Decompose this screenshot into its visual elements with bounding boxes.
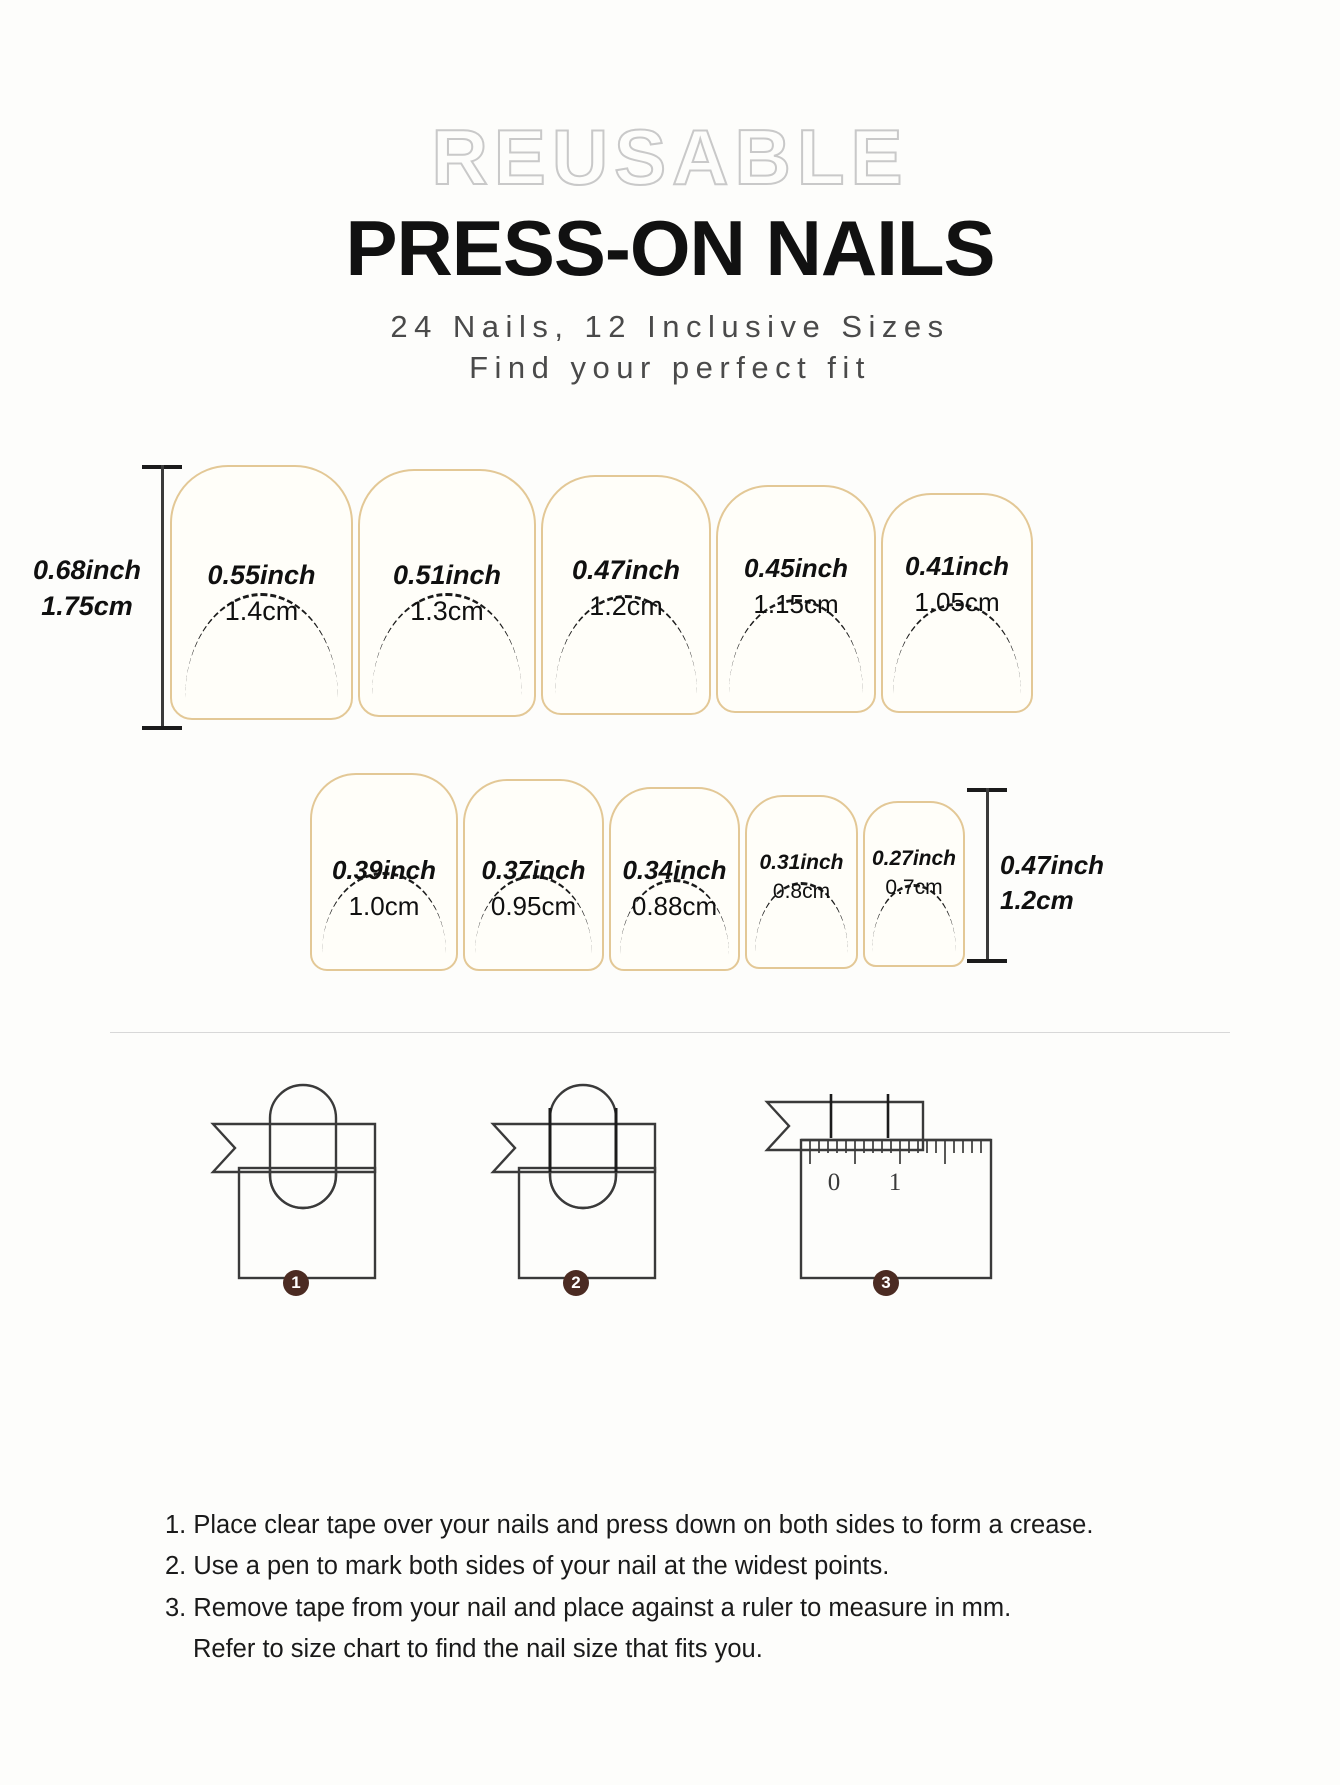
nail-swatch[interactable]: 0.31inch 0.8cm [745,795,858,969]
nail-cm-value: 1.2cm [543,591,709,622]
height-measure-left-label: 0.68inch 1.75cm [22,552,152,625]
measure-bar [161,465,164,730]
nail-inch-value: 0.34inch [611,855,738,886]
subtitle-line-2: Find your perfect fit [0,349,1340,388]
measure-cap-bottom [142,726,182,730]
nail-label: 0.51inch 1.3cm [360,560,534,627]
measure-left-cm: 1.75cm [41,591,133,621]
nail-cm-value: 1.05cm [883,587,1031,618]
instruction-line: Refer to size chart to find the nail siz… [165,1629,1175,1670]
nail-swatch[interactable]: 0.37inch 0.95cm [463,779,604,971]
step-badge-3: 3 [873,1270,899,1296]
nail-inch-value: 0.31inch [747,851,856,875]
measure-cap-bottom [967,959,1007,963]
tape-marked-icon [475,1080,695,1280]
ruler-tick-1: 1 [889,1169,902,1196]
step-1-diagram: 1 [195,1080,415,1285]
measure-right-inch: 0.47inch [1000,850,1104,880]
outline-title: REUSABLE [0,118,1340,196]
nail-inch-value: 0.39inch [312,855,456,886]
nail-inch-value: 0.55inch [172,560,351,591]
nail-label: 0.37inch 0.95cm [465,855,602,922]
step-badge-2: 2 [563,1270,589,1296]
nail-cm-value: 1.4cm [172,596,351,627]
nail-inch-value: 0.47inch [543,555,709,586]
measure-bar [986,788,989,963]
step-3-diagram: 0 1 3 [755,1080,1005,1285]
height-measure-right-label: 0.47inch 1.2cm [1000,848,1140,918]
measure-left-inch: 0.68inch [33,555,141,585]
nail-inch-value: 0.27inch [865,847,963,871]
nail-swatch[interactable]: 0.51inch 1.3cm [358,469,536,717]
ruler-tick-0: 0 [828,1169,841,1196]
nail-swatch[interactable]: 0.45inch 1.15cm [716,485,876,713]
nail-inch-value: 0.45inch [718,553,874,584]
nail-swatch[interactable]: 0.41inch 1.05cm [881,493,1033,713]
nail-cm-value: 1.0cm [312,891,456,922]
nail-row-1: 0.55inch 1.4cm 0.51inch 1.3cm 0.47inch 1… [170,465,1033,720]
instructions-list: 1. Place clear tape over your nails and … [165,1505,1175,1670]
nail-label: 0.27inch 0.7cm [865,847,963,900]
height-measure-right [975,788,999,963]
ruler-measure-icon: 0 1 [755,1080,1005,1280]
nail-inch-value: 0.37inch [465,855,602,886]
nail-swatch[interactable]: 0.27inch 0.7cm [863,801,965,967]
measure-right-cm: 1.2cm [1000,885,1074,915]
nail-cm-value: 1.3cm [360,596,534,627]
nail-label: 0.39inch 1.0cm [312,855,456,922]
measuring-steps: 1 2 [0,1080,1340,1310]
nail-cm-value: 0.8cm [747,880,856,904]
instruction-line: 2. Use a pen to mark both sides of your … [165,1546,1175,1587]
nail-cm-value: 1.15cm [718,589,874,620]
nail-swatch[interactable]: 0.47inch 1.2cm [541,475,711,715]
nail-swatch[interactable]: 0.34inch 0.88cm [609,787,740,971]
nail-label: 0.45inch 1.15cm [718,553,874,620]
nail-size-chart: 0.68inch 1.75cm 0.55inch 1.4cm 0.51inch … [0,440,1340,1010]
nail-swatch[interactable]: 0.55inch 1.4cm [170,465,353,720]
tape-over-nail-icon [195,1080,415,1280]
step-badge-1: 1 [283,1270,309,1296]
nail-label: 0.34inch 0.88cm [611,855,738,922]
nail-cm-value: 0.88cm [611,891,738,922]
nail-label: 0.41inch 1.05cm [883,551,1031,618]
header: REUSABLE PRESS-ON NAILS 24 Nails, 12 Inc… [0,0,1340,387]
nail-label: 0.31inch 0.8cm [747,851,856,904]
nail-inch-value: 0.51inch [360,560,534,591]
nail-row-2: 0.39inch 1.0cm 0.37inch 0.95cm 0.34inch … [310,773,965,971]
instruction-line: 1. Place clear tape over your nails and … [165,1505,1175,1546]
nail-label: 0.47inch 1.2cm [543,555,709,622]
nail-cm-value: 0.7cm [865,876,963,900]
page-title: PRESS-ON NAILS [0,208,1340,290]
nail-inch-value: 0.41inch [883,551,1031,582]
nail-swatch[interactable]: 0.39inch 1.0cm [310,773,458,971]
subtitle-line-1: 24 Nails, 12 Inclusive Sizes [0,308,1340,347]
nail-label: 0.55inch 1.4cm [172,560,351,627]
section-divider [110,1032,1230,1033]
step-2-diagram: 2 [475,1080,695,1285]
nail-cm-value: 0.95cm [465,891,602,922]
instruction-line: 3. Remove tape from your nail and place … [165,1588,1175,1629]
